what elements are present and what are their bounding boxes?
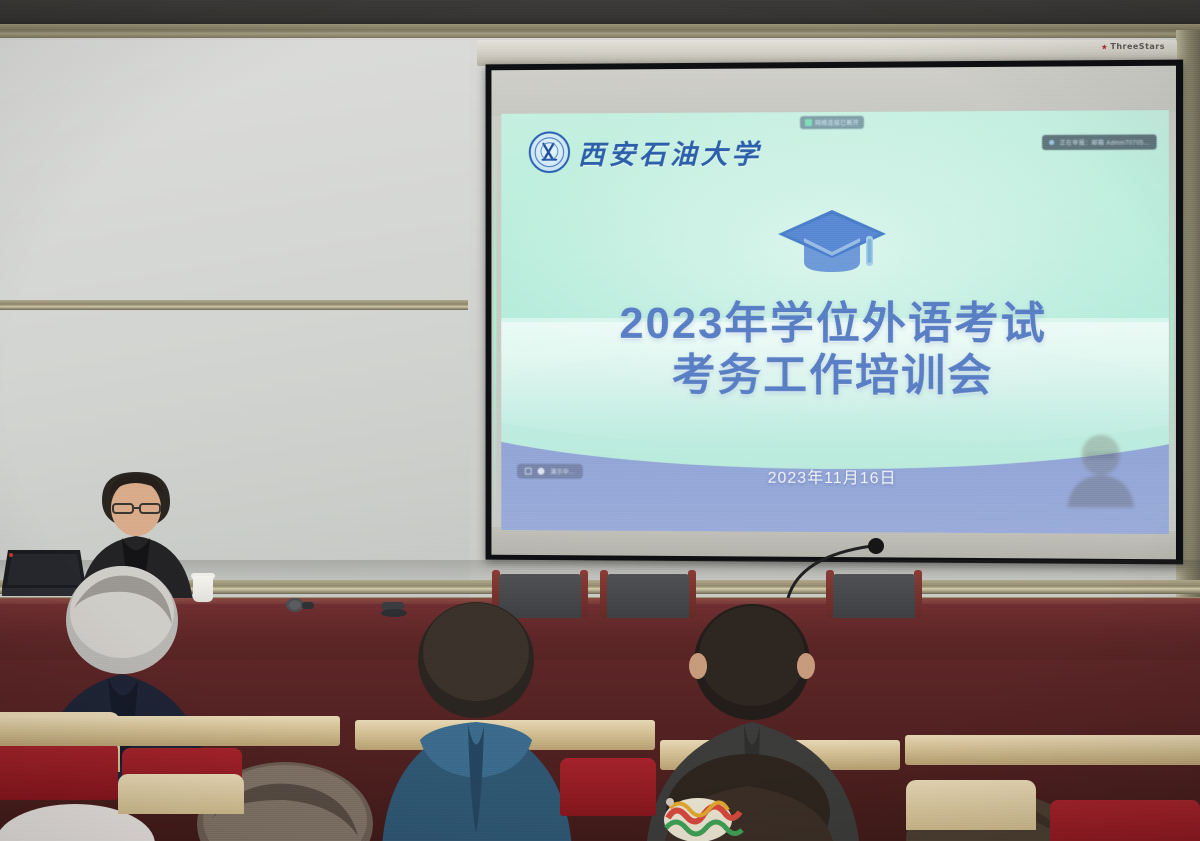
presentation-slide: 西安石油大学 2023年学位外语考试 考务工作培训会 2023年11月16日 bbox=[501, 110, 1169, 534]
slide-title-block: 2023年学位外语考试 考务工作培训会 bbox=[501, 298, 1169, 403]
graduation-cap-icon bbox=[774, 204, 890, 278]
audience-desk bbox=[0, 716, 340, 746]
screen-share-icon[interactable] bbox=[525, 468, 532, 475]
seat-back bbox=[906, 780, 1036, 830]
os-notification-text: 正在举报：邮箱 Admin70705... bbox=[1060, 137, 1150, 146]
signal-bars-icon bbox=[805, 119, 812, 126]
university-crest-icon bbox=[529, 131, 570, 173]
audience-person bbox=[636, 746, 866, 841]
slide-title-line-1: 2023年学位外语考试 bbox=[501, 298, 1169, 350]
chair-post bbox=[914, 570, 922, 618]
presentation-toolbar[interactable]: 演示中... bbox=[517, 464, 583, 479]
projector-screen-frame: 西安石油大学 2023年学位外语考试 考务工作培训会 2023年11月16日 bbox=[486, 60, 1184, 565]
university-name-text: 西安石油大学 bbox=[578, 132, 762, 172]
ceiling-band bbox=[0, 0, 1200, 26]
seat-back bbox=[118, 774, 244, 814]
screen-right-edge-glow bbox=[1170, 110, 1174, 534]
lecture-hall-scene: ThreeStars bbox=[0, 0, 1200, 841]
record-icon[interactable] bbox=[538, 468, 545, 475]
os-toast-notification[interactable]: 网络连接已断开 bbox=[800, 116, 864, 129]
screen-top-margin bbox=[491, 66, 1176, 116]
os-notification-banner[interactable]: 正在举报：邮箱 Admin70705... bbox=[1042, 134, 1156, 150]
presentation-toolbar-text: 演示中... bbox=[550, 467, 574, 476]
bell-icon bbox=[1049, 140, 1054, 145]
whiteboard-rail bbox=[0, 300, 468, 310]
screen-reflection-ghost bbox=[1057, 429, 1144, 508]
projector-screen-surface: 西安石油大学 2023年学位外语考试 考务工作培训会 2023年11月16日 bbox=[491, 66, 1176, 560]
seat-cushion bbox=[560, 758, 656, 816]
audience-desk bbox=[905, 735, 1200, 765]
seat-cushion bbox=[0, 742, 118, 800]
seat-cushion bbox=[1050, 800, 1200, 841]
os-toast-text: 网络连接已断开 bbox=[815, 118, 859, 127]
university-logo-lockup: 西安石油大学 bbox=[529, 130, 762, 173]
desk-microphone bbox=[284, 596, 318, 616]
projector-brand-label: ThreeStars bbox=[1101, 42, 1165, 51]
crest-glyph-icon bbox=[540, 141, 560, 163]
star-icon bbox=[1101, 44, 1107, 50]
screen-left-edge-glow bbox=[493, 114, 496, 530]
slide-title-line-2: 考务工作培训会 bbox=[501, 350, 1169, 403]
